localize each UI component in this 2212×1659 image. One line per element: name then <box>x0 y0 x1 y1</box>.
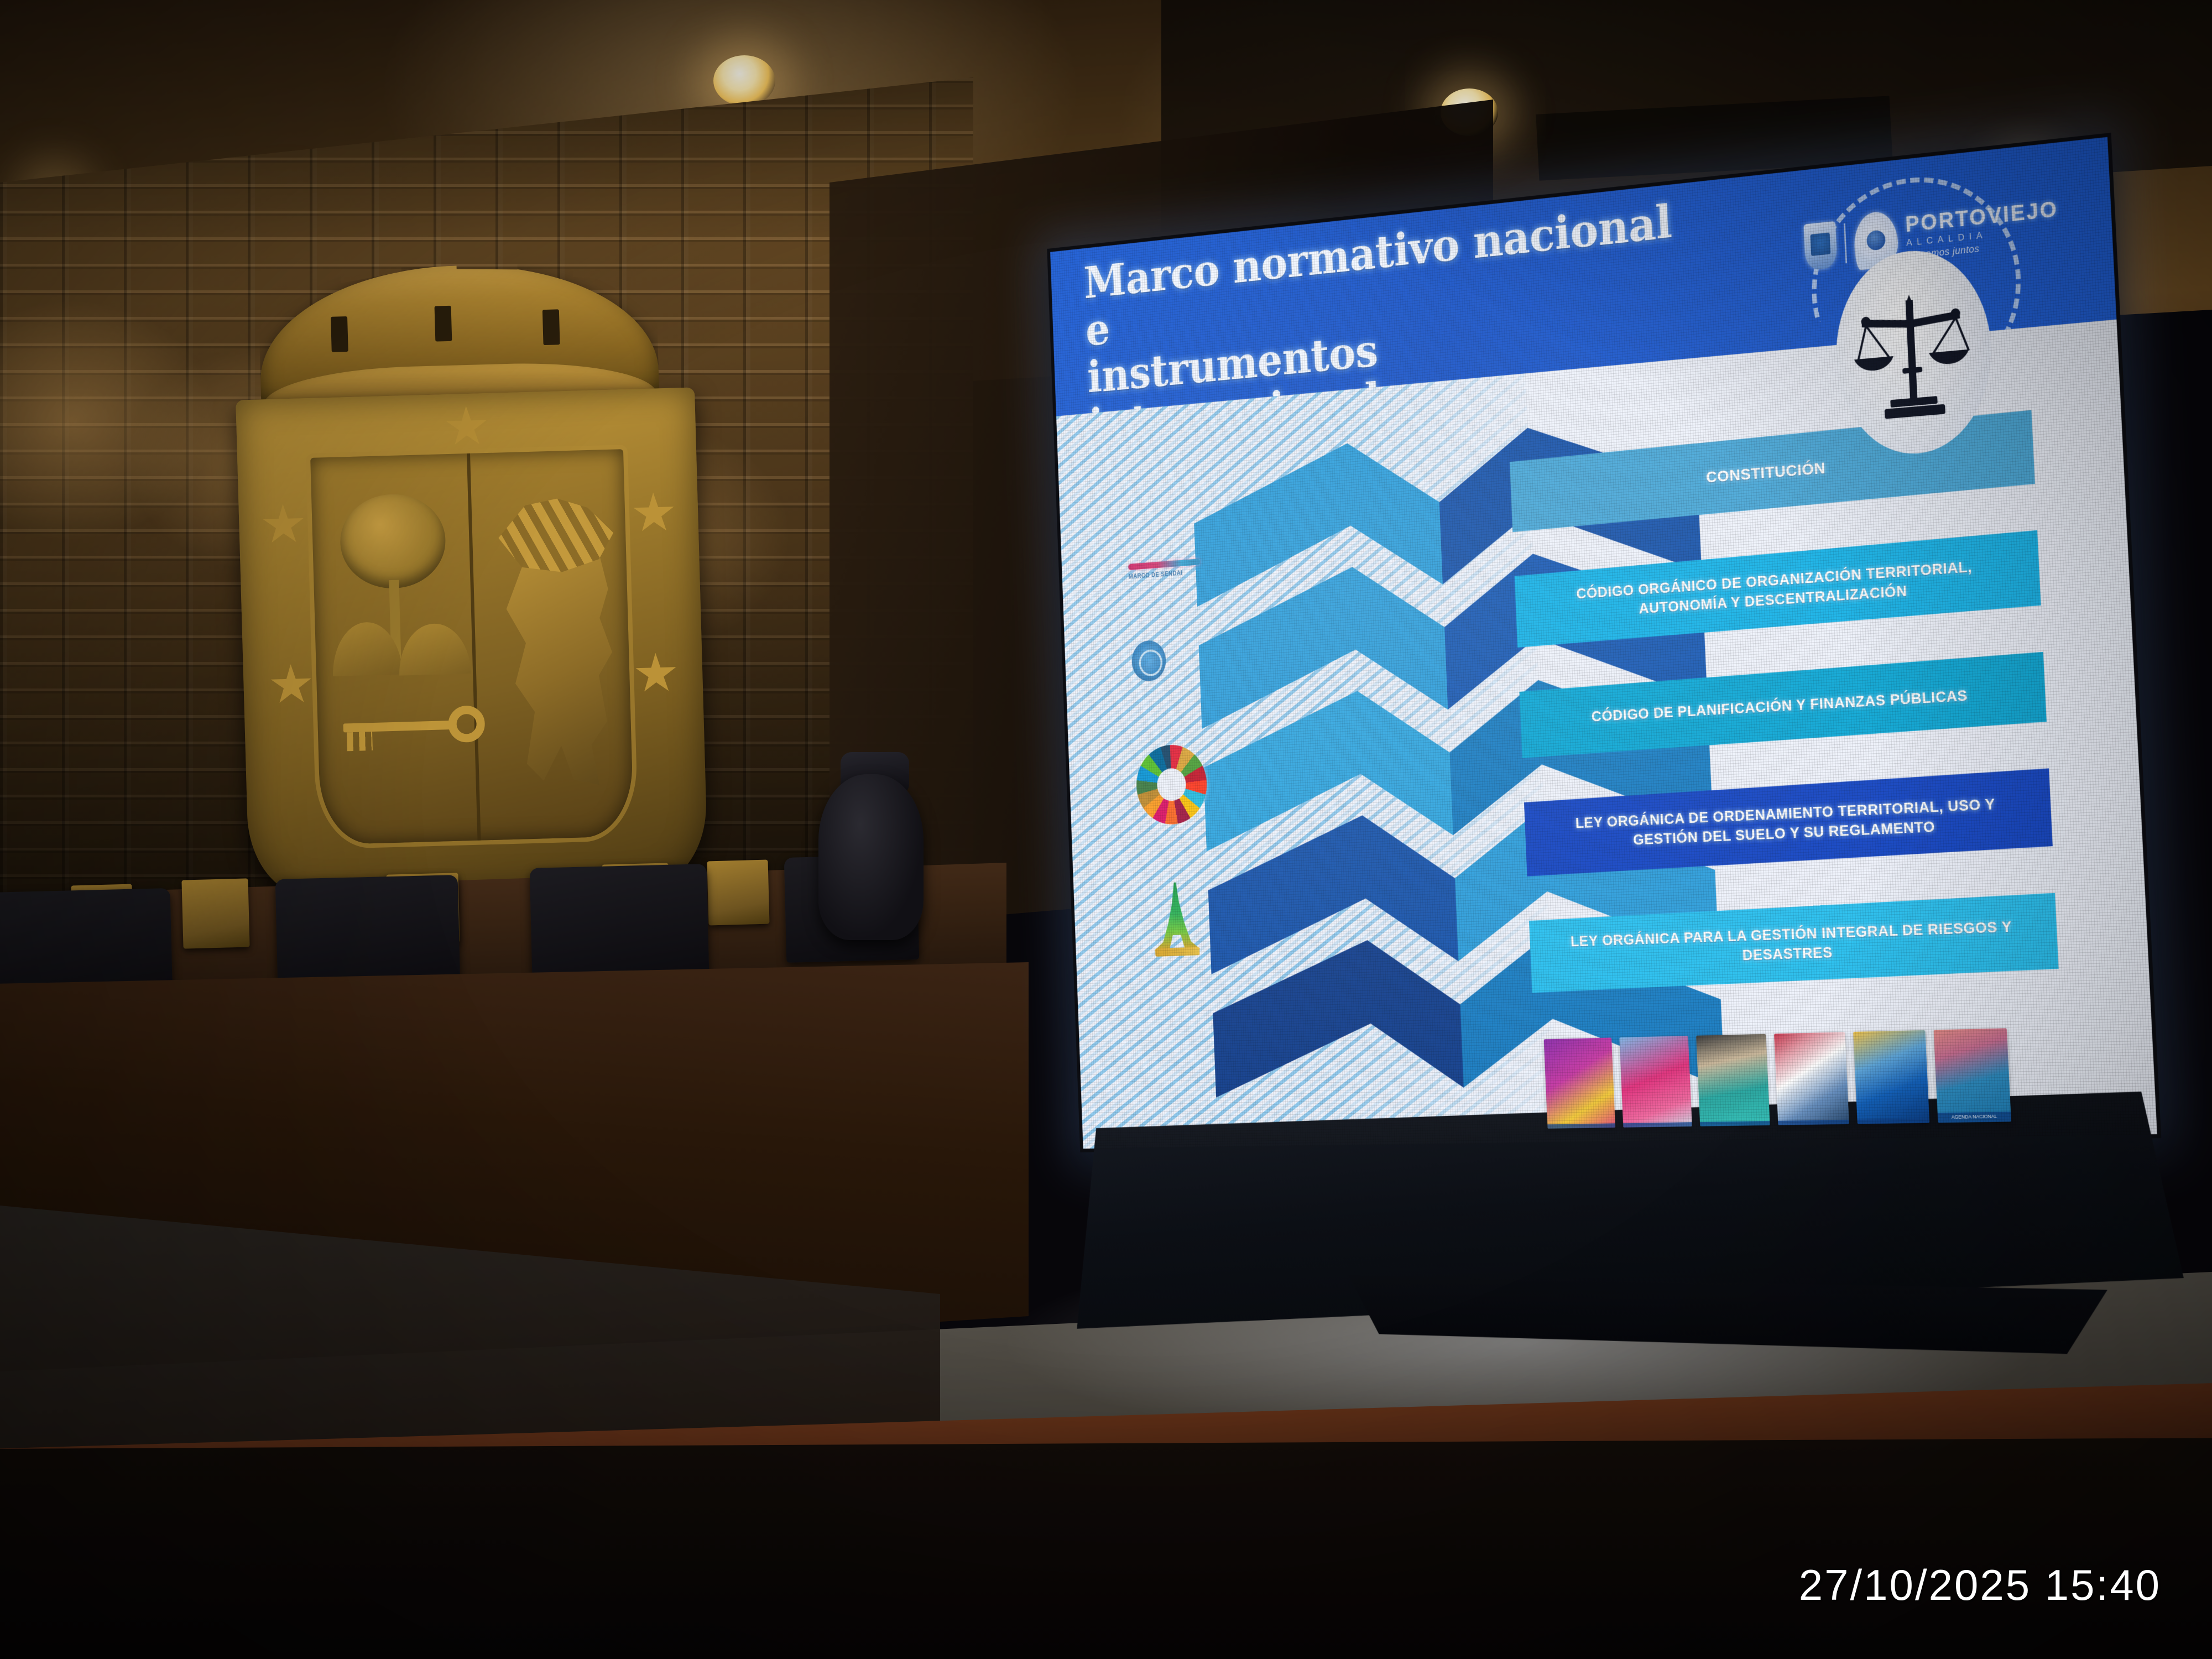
law-bar-2-label: CÓDIGO ORGÁNICO DE ORGANIZACIÓN TERRITOR… <box>1540 554 2012 625</box>
law-bar-1-label: CONSTITUCIÓN <box>1705 457 1826 488</box>
thumbnail-6[interactable]: AGENDA NACIONAL <box>1934 1028 2011 1123</box>
intl-item-sendai: MARCO DE SENDAI <box>1128 555 1210 587</box>
key-teeth <box>347 732 373 751</box>
shield-star-left-1 <box>262 503 305 546</box>
crown-window-1 <box>331 316 348 352</box>
legal-framework-bars: CONSTITUCIÓN CÓDIGO ORGÁNICO DE ORGANIZA… <box>1509 404 2138 1065</box>
hill-right <box>398 623 472 676</box>
shield-star-right-2 <box>634 653 677 696</box>
eiffel-base <box>1155 947 1200 956</box>
intl-item-sdg <box>1135 743 1208 826</box>
thumbnail-4[interactable] <box>1774 1032 1849 1125</box>
camera-timestamp: 27/10/2025 15:40 <box>1799 1560 2161 1610</box>
eiffel-tower-paris-agreement-icon <box>1150 880 1203 959</box>
international-instruments: MARCO DE SENDAI <box>1128 553 1250 1037</box>
intl-item-un <box>1131 639 1166 682</box>
crown-window-2 <box>435 306 452 342</box>
led-video-wall[interactable]: Marco normativo nacional e instrumentos … <box>1047 133 2161 1152</box>
law-bar-3[interactable]: CÓDIGO DE PLANIFICACIÓN Y FINANZAS PÚBLI… <box>1519 652 2047 758</box>
balance-scales-icon <box>1848 285 1978 432</box>
brand-text-block: PORTOVIEJO ALCALDIA crecemos juntos <box>1905 198 2060 260</box>
thumbnail-2[interactable] <box>1619 1036 1692 1128</box>
law-bar-2[interactable]: CÓDIGO ORGÁNICO DE ORGANIZACIÓN TERRITOR… <box>1514 530 2041 648</box>
thumbnail-4-caption <box>1778 1120 1849 1125</box>
tree-icon <box>339 493 447 589</box>
thumbnail-1-caption <box>1547 1123 1615 1129</box>
dais-plaque-2 <box>181 878 249 948</box>
council-chair-2 <box>275 875 461 990</box>
speaker-chair <box>818 774 924 940</box>
shield-pale-divider <box>467 453 481 841</box>
crown-window-3 <box>542 309 560 345</box>
thumbnail-2-caption <box>1623 1122 1692 1128</box>
shield-field <box>310 449 634 845</box>
sendai-framework-logo: MARCO DE SENDAI <box>1128 555 1210 587</box>
sendai-bar <box>1128 559 1200 570</box>
ceiling-light-1 <box>713 55 775 106</box>
sendai-label: MARCO DE SENDAI <box>1129 569 1183 580</box>
council-chamber-photo: Marco normativo nacional e instrumentos … <box>0 0 2212 1659</box>
law-bar-4-label: LEY ORGÁNICA DE ORDENAMIENTO TERRITORIAL… <box>1550 793 2025 853</box>
eiffel-body <box>1150 881 1202 951</box>
united-nations-emblem <box>1131 639 1166 682</box>
logo-divider <box>1844 223 1847 263</box>
thumbnail-5-caption <box>1858 1119 1930 1124</box>
shield-plate <box>236 388 708 898</box>
thumbnail-1[interactable] <box>1544 1037 1615 1128</box>
law-bar-5[interactable]: LEY ORGÁNICA PARA LA GESTIÓN INTEGRAL DE… <box>1528 893 2059 993</box>
led-screen-assembly: Marco normativo nacional e instrumentos … <box>918 133 2212 1217</box>
coat-of-arms-portoviejo <box>212 259 728 925</box>
thumbnail-3-caption <box>1700 1121 1770 1126</box>
shield-star-top <box>445 405 488 448</box>
dais-plaque-5 <box>707 860 770 926</box>
thumbnail-6-caption: AGENDA NACIONAL <box>1938 1112 2011 1123</box>
law-bar-4[interactable]: LEY ORGÁNICA DE ORDENAMIENTO TERRITORIAL… <box>1524 768 2053 876</box>
intl-item-paris <box>1150 880 1203 959</box>
thumbnail-5[interactable] <box>1853 1030 1929 1124</box>
law-bar-5-label: LEY ORGÁNICA PARA LA GESTIÓN INTEGRAL DE… <box>1555 916 2030 971</box>
city-shield-icon <box>1803 221 1837 270</box>
slide-body: MARCO DE SENDAI <box>1056 319 2161 1152</box>
law-bar-3-label: CÓDIGO DE PLANIFICACIÓN Y FINANZAS PÚBLI… <box>1591 686 1968 727</box>
sdg-color-wheel-icon <box>1135 743 1208 826</box>
shield-star-left-2 <box>270 664 313 707</box>
council-chair-3 <box>530 864 709 979</box>
document-thumbnails: AGENDA NACIONAL <box>1544 1028 2029 1132</box>
thumbnail-3[interactable] <box>1696 1034 1770 1126</box>
key-icon <box>343 721 454 733</box>
shield-star-right-1 <box>632 492 675 535</box>
key-ring <box>448 705 486 743</box>
stage-front-dark <box>0 1438 2212 1659</box>
